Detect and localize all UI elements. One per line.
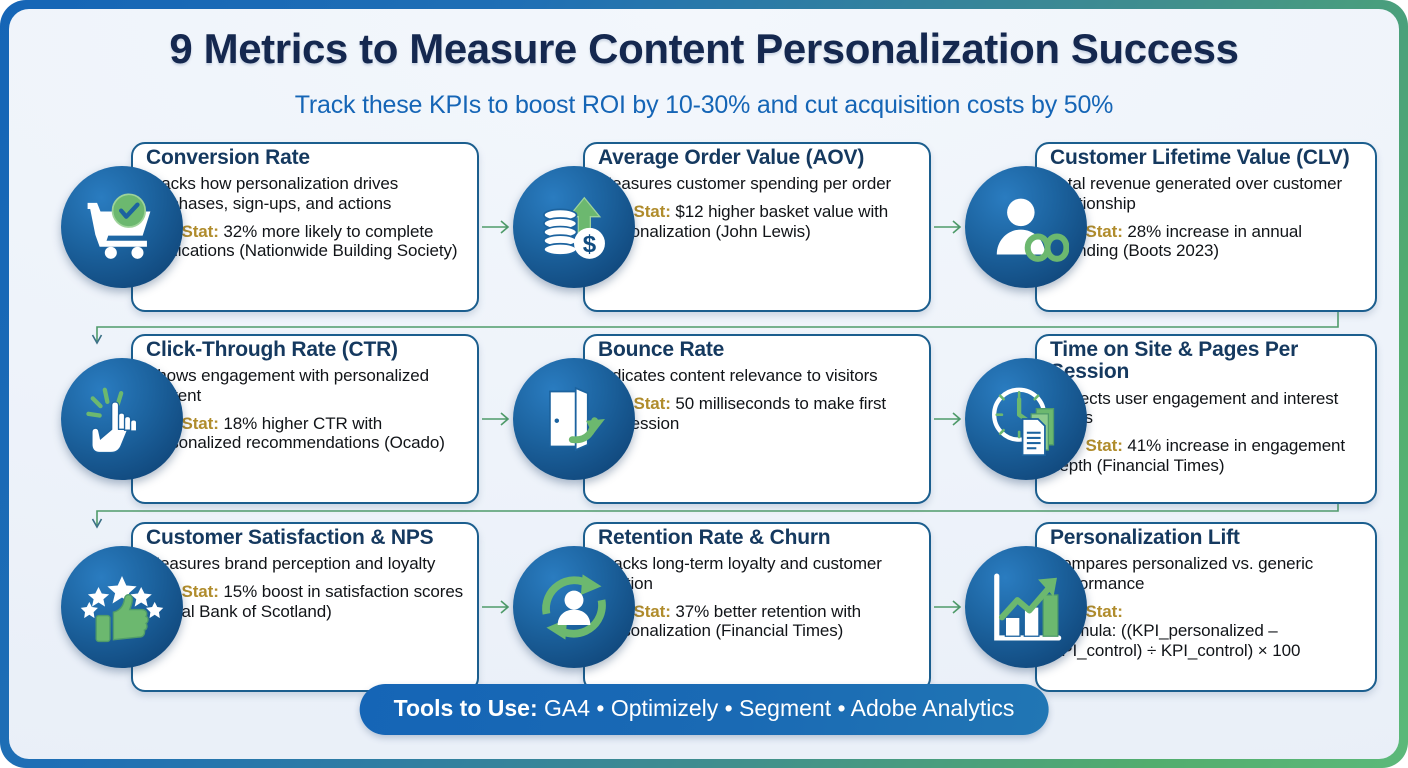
page-subtitle: Track these KPIs to boost ROI by 10-30% … xyxy=(9,91,1399,120)
card-key-stat: Key Stat: 37% better retention with pers… xyxy=(598,602,919,641)
click-hand-icon xyxy=(61,358,183,480)
flow-arrow-7-8 xyxy=(481,599,515,615)
card-description: Indicates content relevance to visitors xyxy=(598,366,919,386)
card-text: Retention Rate & Churn Tracks long-term … xyxy=(598,527,919,691)
card-title: Retention Rate & Churn xyxy=(598,527,919,549)
flow-arrow-4-5 xyxy=(481,411,515,427)
key-stat-value: Formula: ((KPI_personalized – KPI_contro… xyxy=(1050,621,1300,660)
flow-arrow-2-3 xyxy=(933,219,967,235)
card-key-stat: Key Stat: 41% increase in engagement dep… xyxy=(1050,436,1365,475)
user-refresh-cycle-icon xyxy=(513,546,635,668)
card-text: Conversion Rate Tracks how personalizati… xyxy=(146,147,467,311)
card-title: Customer Satisfaction & NPS xyxy=(146,527,467,549)
metrics-grid: Conversion Rate Tracks how personalizati… xyxy=(9,137,1399,697)
card-key-stat: Key Stat:Formula: ((KPI_personalized – K… xyxy=(1050,602,1365,661)
card-title: Click-Through Rate (CTR) xyxy=(146,339,467,361)
card-text: Customer Lifetime Value (CLV) Total reve… xyxy=(1050,147,1365,311)
card-text: Bounce Rate Indicates content relevance … xyxy=(598,339,919,503)
card-title: Time on Site & Pages Per Session xyxy=(1050,339,1365,384)
card-description: Tracks long-term loyalty and customer at… xyxy=(598,554,919,593)
svg-text:$: $ xyxy=(583,231,597,258)
card-key-stat: Key Stat: 50 milliseconds to make first … xyxy=(598,394,919,433)
flow-arrow-5-6 xyxy=(933,411,967,427)
card-text: Time on Site & Pages Per Session Reflect… xyxy=(1050,339,1365,503)
card-key-stat: Key Stat: 15% boost in satisfaction scor… xyxy=(146,582,467,621)
tools-label: Tools to Use: xyxy=(394,695,538,721)
page-title: 9 Metrics to Measure Content Personaliza… xyxy=(9,25,1399,73)
infographic-frame: 9 Metrics to Measure Content Personaliza… xyxy=(0,0,1408,768)
metric-card-7[interactable]: Customer Satisfaction & NPS Measures bra… xyxy=(61,517,479,697)
metric-card-6[interactable]: Time on Site & Pages Per Session Reflect… xyxy=(965,329,1377,509)
card-title: Personalization Lift xyxy=(1050,527,1365,549)
shopping-cart-check-icon xyxy=(61,166,183,288)
flow-arrow-8-9 xyxy=(933,599,967,615)
metric-card-3[interactable]: Customer Lifetime Value (CLV) Total reve… xyxy=(965,137,1377,317)
thumbs-up-stars-icon xyxy=(61,546,183,668)
coins-up-arrow-dollar-icon: $ xyxy=(513,166,635,288)
card-title: Bounce Rate xyxy=(598,339,919,361)
card-description: Reflects user engagement and interest le… xyxy=(1050,389,1365,428)
card-title: Average Order Value (AOV) xyxy=(598,147,919,169)
tools-list: GA4 • Optimizely • Segment • Adobe Analy… xyxy=(538,695,1015,721)
card-description: Measures customer spending per order xyxy=(598,174,919,194)
card-description: Tracks how personalization drives purcha… xyxy=(146,174,467,213)
card-text: Customer Satisfaction & NPS Measures bra… xyxy=(146,527,467,691)
infographic-canvas: 9 Metrics to Measure Content Personaliza… xyxy=(9,9,1399,759)
card-key-stat: Key Stat: 32% more likely to complete ap… xyxy=(146,222,467,261)
bar-chart-growth-icon xyxy=(965,546,1087,668)
clock-documents-icon xyxy=(965,358,1087,480)
metric-card-5[interactable]: Bounce Rate Indicates content relevance … xyxy=(513,329,931,509)
card-description: Shows engagement with personalized conte… xyxy=(146,366,467,405)
tools-banner[interactable]: Tools to Use: GA4 • Optimizely • Segment… xyxy=(360,684,1049,735)
card-key-stat: Key Stat: $12 higher basket value with p… xyxy=(598,202,919,241)
card-key-stat: Key Stat: 28% increase in annual spendin… xyxy=(1050,222,1365,261)
card-description: Measures brand perception and loyalty xyxy=(146,554,467,574)
flow-arrow-1-2 xyxy=(481,219,515,235)
metric-card-4[interactable]: Click-Through Rate (CTR) Shows engagemen… xyxy=(61,329,479,509)
metric-card-9[interactable]: Personalization Lift Compares personaliz… xyxy=(965,517,1377,697)
card-title: Conversion Rate xyxy=(146,147,467,169)
card-text: Average Order Value (AOV) Measures custo… xyxy=(598,147,919,311)
metric-card-2[interactable]: $ Average Order Value (AOV) Measures cus… xyxy=(513,137,931,317)
card-text: Click-Through Rate (CTR) Shows engagemen… xyxy=(146,339,467,503)
user-infinity-icon xyxy=(965,166,1087,288)
metric-card-8[interactable]: Retention Rate & Churn Tracks long-term … xyxy=(513,517,931,697)
card-text: Personalization Lift Compares personaliz… xyxy=(1050,527,1365,691)
card-description: Total revenue generated over customer re… xyxy=(1050,174,1365,213)
card-description: Compares personalized vs. generic perfor… xyxy=(1050,554,1365,593)
card-key-stat: Key Stat: 18% higher CTR with personaliz… xyxy=(146,414,467,453)
open-door-exit-icon xyxy=(513,358,635,480)
card-title: Customer Lifetime Value (CLV) xyxy=(1050,147,1365,169)
metric-card-1[interactable]: Conversion Rate Tracks how personalizati… xyxy=(61,137,479,317)
